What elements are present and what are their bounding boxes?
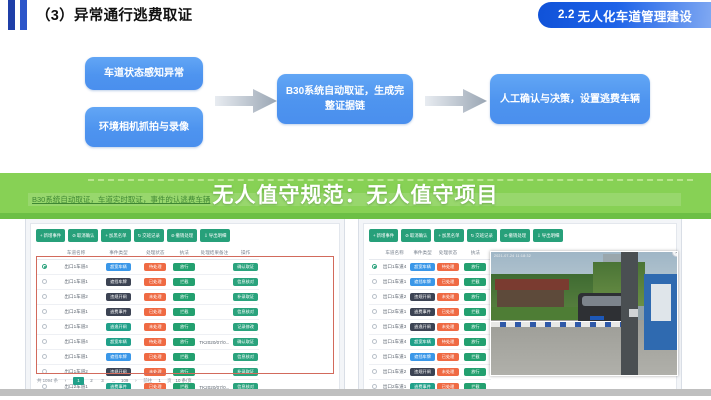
action-button[interactable]: 信息核对 [233,278,258,286]
status-badge: 超宽车辆 [106,338,131,346]
cell-event-type: 违规开闸 [98,290,138,305]
cell-process-status: 已处理 [436,275,460,290]
status-badge: 待处理 [437,263,459,271]
pagination-page[interactable]: 2 [88,377,95,385]
status-badge: 放行 [173,293,195,301]
table-row[interactable]: 出口1车道3逃逸开闸未处理放行记录修改 [36,320,259,335]
table-row[interactable]: 出口1车道2违规开闸未处理放行 [369,290,491,305]
toolbar-button-1[interactable]: +新增事件 [369,229,398,242]
status-badge: 已处理 [144,308,166,316]
pagination-goto-input[interactable]: 1 [156,377,163,385]
left-dashboard-screenshot: +新增事件⊘取消确认+加黑名单↻交班记录⊘撤销处理⇩导出明细 车道名称事件类型处… [25,218,345,396]
status-badge: 拦截 [173,308,195,316]
status-badge: 遮挡车牌 [410,353,435,361]
cell-enforcement: 拦截 [172,275,197,290]
cell-event-type: 遮挡车牌 [98,350,138,365]
slide-header: （3）异常通行逃费取证 2.2 无人化车道管理建设 [0,0,711,30]
toolbar-button-4[interactable]: ↻交班记录 [467,229,497,242]
toolbar-button-label: 加黑名单 [109,233,127,238]
cell-process-status: 未处理 [139,320,172,335]
table-row[interactable]: 出口1车道2违规开闸未处理放行 [369,365,491,380]
radio-button-icon[interactable] [372,264,377,269]
cell-process-status: 待处理 [139,335,172,350]
cell-action[interactable]: 信息核对 [232,350,259,365]
toolbar-button-label: 取消确认 [410,233,428,238]
column-header [369,246,380,260]
radio-button-icon[interactable] [372,354,377,359]
status-badge: 放行 [173,263,195,271]
column-header [36,246,54,260]
screenshot-area: +新增事件⊘取消确认+加黑名单↻交班记录⊘撤销处理⇩导出明细 车道名称事件类型处… [0,170,711,400]
pagination-next[interactable]: › [132,377,139,385]
plus-icon: + [105,233,108,238]
status-badge: 未处理 [437,293,459,301]
toolbar-button-label: 导出明细 [209,233,227,238]
radio-button-icon[interactable] [372,294,377,299]
ban-icon: ⊘ [171,233,175,238]
radio-button-icon[interactable] [42,324,47,329]
table-row[interactable]: 出口1车道1遮挡车牌已处理拦截 [369,350,491,365]
column-header: 处理状态 [436,246,460,260]
cell-event-type: 遮挡车牌 [98,275,138,290]
row-select-cell[interactable] [36,335,54,350]
column-header: 执法 [460,246,490,260]
table-row[interactable]: 出口1车道2违规开闸未处理放行补录取证 [36,290,259,305]
refresh-icon: ↻ [471,233,475,238]
cell-event-type: 逃费事件 [409,305,436,320]
status-badge: 超宽车辆 [106,263,131,271]
cell-note [197,350,233,365]
left-panel-body: +新增事件⊘取消确认+加黑名单↻交班记录⊘撤销处理⇩导出明细 车道名称事件类型处… [30,223,340,391]
toolbar-button-label: 撤销处理 [509,233,527,238]
toolbar-button-label: 加黑名单 [442,233,460,238]
cell-event-type: 逃逸开闸 [98,320,138,335]
status-badge: 未处理 [144,368,166,376]
cell-lane-name: 出口1车道4 [380,260,409,275]
cell-process-status: 待处理 [436,260,460,275]
export-icon: ⇩ [537,233,541,238]
action-button[interactable]: 确认取证 [233,263,258,271]
right-panel-body: +新增事件⊘取消确认+加黑名单↻交班记录⊘撤销处理⇩导出明细 车道名称事件类型处… [363,223,677,391]
toolbar-button-5[interactable]: ⊘撤销处理 [167,229,197,242]
export-icon: ⇩ [204,233,208,238]
status-badge: 拦截 [464,278,486,286]
column-header: 处理结果备注 [197,246,233,260]
toolbar-button-1[interactable]: +新增事件 [36,229,65,242]
cell-action[interactable]: 记录修改 [232,320,259,335]
action-button[interactable]: 补录取证 [233,293,258,301]
radio-button-icon[interactable] [42,339,47,344]
table-row[interactable]: 出口1车道1遮挡车牌已处理拦截 [369,275,491,290]
plus-icon: + [438,233,441,238]
action-button[interactable]: 记录修改 [233,323,258,331]
status-badge: 逃逸开闸 [106,323,131,331]
row-select-cell[interactable] [36,305,54,320]
cell-note [197,320,233,335]
section-badge-label: 无人化车道管理建设 [578,6,692,25]
toolbar-button-4[interactable]: ↻交班记录 [134,229,164,242]
cell-lane-name: 出口2车道1 [54,305,99,320]
status-badge: 超宽车辆 [410,263,435,271]
cell-lane-name: 出口1车道1 [54,350,99,365]
pagination-page[interactable]: 3 [99,377,106,385]
cell-process-status: 未处理 [436,365,460,380]
cell-lane-name: 出口1车道2 [54,290,99,305]
cell-enforcement: 放行 [460,290,490,305]
row-select-cell[interactable] [369,365,380,380]
cell-enforcement: 拦截 [460,275,490,290]
cell-enforcement: 放行 [172,320,197,335]
status-badge: 遮挡车牌 [106,353,131,361]
status-badge: 违规开闸 [106,293,131,301]
row-select-cell[interactable] [369,305,380,320]
cell-lane-name: 出口1车道2 [380,365,409,380]
table-row[interactable]: 出口2车道1逃费事件已处理拦截 [369,305,491,320]
radio-button-icon[interactable] [372,369,377,374]
cell-event-type: 逃逸开闸 [409,320,436,335]
cell-lane-name: 出口1车道1 [54,275,99,290]
flow-node-b30-evidence: B30系统自动取证，生成完整证据链 [277,74,413,124]
status-badge: 放行 [464,323,486,331]
status-badge: 未处理 [144,293,166,301]
cell-action[interactable]: 信息核对 [232,305,259,320]
column-header: 处理状态 [139,246,172,260]
flow-arrow-2-icon [425,88,487,114]
cell-action[interactable]: 确认取证 [232,335,259,350]
table-row[interactable]: 出口1车道4超宽车辆待处理放行 [369,335,491,350]
status-badge: 待处理 [144,263,166,271]
pagination-prev[interactable]: ‹ [62,377,69,385]
column-header: 执法 [172,246,197,260]
flow-node-manual-decision: 人工确认与决策，设置逃费车辆 [490,74,650,124]
row-select-cell[interactable] [369,335,380,350]
row-select-cell[interactable] [36,275,54,290]
status-badge: 拦截 [464,308,486,316]
table-row[interactable]: 出口1车道4超宽车辆待处理放行TK2020/07/0...确认取证 [36,335,259,350]
toolbar-button-label: 交班记录 [475,233,493,238]
table-row[interactable]: 出口1车道4超宽车辆待处理放行 [369,260,491,275]
cell-note [197,260,233,275]
cell-process-status: 已处理 [139,275,172,290]
cell-lane-name: 出口1车道3 [54,320,99,335]
flow-node-camera-capture: 环境相机抓拍与录像 [85,107,203,147]
action-button[interactable]: 补录取证 [233,368,258,376]
cell-event-type: 超宽车辆 [98,335,138,350]
cell-enforcement: 拦截 [172,350,197,365]
ban-icon: ⊘ [504,233,508,238]
pagination-goto-label: 前往 [143,378,152,384]
status-badge: 拦截 [173,278,195,286]
row-select-cell[interactable] [369,320,380,335]
right-panel-toolbar: +新增事件⊘取消确认+加黑名单↻交班记录⊘撤销处理⇩导出明细 [369,229,671,242]
cell-process-status: 已处理 [436,305,460,320]
toolbar-button-6[interactable]: ⇩导出明细 [200,229,230,242]
cell-note [197,275,233,290]
status-badge: 放行 [464,263,486,271]
toolbar-button-label: 导出明细 [542,233,560,238]
row-select-cell[interactable] [36,320,54,335]
cell-lane-name: 出口1车道4 [54,260,99,275]
row-select-cell[interactable] [369,290,380,305]
section-badge-number: 2.2 [558,9,575,21]
toolbar-button-label: 取消确认 [77,233,95,238]
cell-lane-name: 出口1车道4 [380,335,409,350]
toolbar-button-label: 交班记录 [142,233,160,238]
left-event-table: 车道名称事件类型处理状态执法处理结果备注操作出口1车道4超宽车辆待处理放行确认取… [36,246,259,396]
photo-vehicle-windows [582,296,623,306]
radio-button-icon[interactable] [372,309,377,314]
action-button[interactable]: 确认取证 [233,338,258,346]
radio-button-icon[interactable] [372,339,377,344]
cell-enforcement: 拦截 [460,350,490,365]
status-badge: 已处理 [437,278,459,286]
cell-enforcement: 拦截 [172,305,197,320]
status-badge: 已处理 [144,353,166,361]
header-accent-bar-2 [20,0,27,30]
plus-icon: + [373,233,376,238]
photo-license-plate [590,316,605,320]
cell-enforcement: 放行 [460,260,490,275]
toolbar-button-label: 新增事件 [44,233,62,238]
cell-action[interactable]: 信息核对 [232,275,259,290]
refresh-icon: ↻ [138,233,142,238]
cell-enforcement: 放行 [460,335,490,350]
cell-process-status: 待处理 [436,335,460,350]
status-badge: 待处理 [437,338,459,346]
status-badge: 未处理 [144,323,166,331]
cell-action[interactable]: 补录取证 [232,290,259,305]
flow-node-lane-anomaly: 车道状态感知异常 [85,57,203,90]
radio-button-icon[interactable] [372,279,377,284]
status-badge: 超宽车辆 [410,338,435,346]
status-badge: 违规开闸 [410,293,435,301]
plus-icon: + [40,233,43,238]
pagination-page[interactable]: 1 [73,377,84,385]
row-select-cell[interactable] [36,260,54,275]
toolbar-button-5[interactable]: ⊘撤销处理 [500,229,530,242]
pagination-total: 共 1094 条 [37,378,58,384]
table-row[interactable]: 出口1车道4超宽车辆待处理放行确认取证 [36,260,259,275]
row-select-cell[interactable] [36,350,54,365]
cell-event-type: 超宽车辆 [409,260,436,275]
right-event-table: 车道名称事件类型处理状态执法出口1车道4超宽车辆待处理放行出口1车道1遮挡车牌已… [369,246,491,396]
radio-button-icon[interactable] [42,279,47,284]
status-badge: 遮挡车牌 [410,278,435,286]
status-badge: 放行 [464,293,486,301]
action-button[interactable]: 信息核对 [233,308,258,316]
cell-process-status: 已处理 [139,305,172,320]
cell-lane-name: 出口1车道4 [54,335,99,350]
cell-note [197,305,233,320]
status-badge: 已处理 [144,278,166,286]
green-bottom-strip [0,213,711,219]
radio-button-icon[interactable] [42,264,47,269]
cell-lane-name: 出口1车道2 [380,290,409,305]
status-badge: 违规开闸 [410,368,435,376]
cell-event-type: 违规开闸 [409,365,436,380]
row-select-cell[interactable] [36,290,54,305]
slide-root: （3）异常通行逃费取证 2.2 无人化车道管理建设 车道状态感知异常 环境相机抓… [0,0,711,400]
cell-action[interactable]: 确认取证 [232,260,259,275]
toolbar-button-3[interactable]: +加黑名单 [434,229,463,242]
status-badge: 逃费事件 [410,308,435,316]
radio-button-icon[interactable] [372,324,377,329]
photo-equipment-box [629,309,638,318]
toolbar-button-label: 撤销处理 [176,233,194,238]
photo-timestamp: 2021-07-24 11:18:32 [494,254,531,258]
column-header: 事件类型 [409,246,436,260]
action-button[interactable]: 信息核对 [233,353,258,361]
pagination-page[interactable]: 109 [121,377,128,385]
toolbar-button-label: 新增事件 [377,233,395,238]
cell-event-type: 遮挡车牌 [409,350,436,365]
status-badge: 遮挡车牌 [106,278,131,286]
flow-diagram: 车道状态感知异常 环境相机抓拍与录像 B30系统自动取证，生成完整证据链 人工确… [0,30,711,170]
cell-enforcement: 放行 [172,335,197,350]
table-header-row: 车道名称事件类型处理状态执法 [369,246,491,260]
cell-lane-name: 出口1车道3 [380,320,409,335]
table-row[interactable]: 出口1车道3逃逸开闸未处理放行 [369,320,491,335]
photo-toll-booth-window [651,284,671,321]
table-header-row: 车道名称事件类型处理状态执法处理结果备注操作 [36,246,259,260]
status-badge: 放行 [464,338,486,346]
status-badge: 待处理 [144,338,166,346]
row-select-cell[interactable] [369,260,380,275]
cell-lane-name: 出口1车道1 [380,350,409,365]
evidence-photo[interactable]: 2021-07-24 11:18:32 × [490,251,678,376]
cell-lane-name: 出口2车道1 [380,305,409,320]
photo-barrier-gate [491,321,629,327]
status-badge: 放行 [173,338,195,346]
row-select-cell[interactable] [369,275,380,290]
cell-process-status: 未处理 [436,320,460,335]
status-badge: 已处理 [437,308,459,316]
status-badge: 放行 [173,323,195,331]
cell-lane-name: 出口1车道1 [380,275,409,290]
toolbar-button-2[interactable]: ⊘取消确认 [68,229,98,242]
ban-icon: ⊘ [72,233,76,238]
status-badge: 放行 [464,368,486,376]
left-pagination[interactable]: 共 1094 条‹123...109›前往1页10 条/页 [37,376,333,386]
status-badge: 放行 [173,368,195,376]
status-badge: 违规开闸 [106,368,131,376]
toolbar-button-3[interactable]: +加黑名单 [101,229,130,242]
cell-process-status: 未处理 [436,290,460,305]
column-header: 事件类型 [98,246,138,260]
table-row[interactable]: 出口2车道1逃费事件已处理拦截信息核对 [36,305,259,320]
status-badge: 拦截 [173,353,195,361]
toolbar-button-2[interactable]: ⊘取消确认 [401,229,431,242]
status-badge: 未处理 [437,368,459,376]
cell-event-type: 超宽车辆 [409,335,436,350]
gray-divider-strip [0,389,711,396]
cell-enforcement: 放行 [172,260,197,275]
column-header: 操作 [232,246,259,260]
status-badge: 已处理 [437,353,459,361]
cell-event-type: 违规开闸 [409,290,436,305]
close-icon[interactable]: × [672,251,678,257]
cell-process-status: 已处理 [436,350,460,365]
header-accent-bar-1 [8,0,15,30]
cell-process-status: 已处理 [139,350,172,365]
status-badge: 逃逸开闸 [410,323,435,331]
banner-title: 无人值守规范：无人值守项目 [0,177,711,211]
radio-button-icon[interactable] [42,309,47,314]
left-panel-toolbar: +新增事件⊘取消确认+加黑名单↻交班记录⊘撤销处理⇩导出明细 [36,229,334,242]
cell-event-type: 遮挡车牌 [409,275,436,290]
cell-enforcement: 拦截 [460,305,490,320]
section-badge: 2.2 无人化车道管理建设 [538,2,711,28]
green-overlay-banner: B30系统自动取证，车道实时取证，事件的认逃费车辆 无人值守规范：无人值守项目 [0,173,711,213]
cell-event-type: 超宽车辆 [98,260,138,275]
pagination-page[interactable]: ... [110,377,117,385]
cell-enforcement: 放行 [172,290,197,305]
radio-button-icon[interactable] [42,294,47,299]
flow-arrow-1-icon [215,88,277,114]
photo-toll-canopy-roof [495,279,569,290]
cell-enforcement: 放行 [460,320,490,335]
cell-event-type: 逃费事件 [98,305,138,320]
cell-enforcement: 放行 [460,365,490,380]
column-header: 车道名称 [380,246,409,260]
table-row[interactable]: 出口1车道1遮挡车牌已处理拦截信息核对 [36,275,259,290]
cell-note: TK2020/07/0... [197,335,233,350]
status-badge: 逃费事件 [106,308,131,316]
right-dashboard-screenshot: +新增事件⊘取消确认+加黑名单↻交班记录⊘撤销处理⇩导出明细 车道名称事件类型处… [358,218,682,396]
pagination-page-word: 页 [167,378,171,384]
row-select-cell[interactable] [369,350,380,365]
status-badge: 未处理 [437,323,459,331]
status-badge: 拦截 [464,353,486,361]
cell-process-status: 未处理 [139,290,172,305]
pagination-page-size[interactable]: 10 条/页 [176,377,192,385]
cell-note [197,290,233,305]
toolbar-button-6[interactable]: ⇩导出明细 [533,229,563,242]
radio-button-icon[interactable] [42,369,47,374]
table-row[interactable]: 出口1车道1遮挡车牌已处理拦截信息核对 [36,350,259,365]
page-title: （3）异常通行逃费取证 [36,4,192,25]
cell-process-status: 待处理 [139,260,172,275]
ban-icon: ⊘ [405,233,409,238]
column-header: 车道名称 [54,246,99,260]
radio-button-icon[interactable] [42,354,47,359]
